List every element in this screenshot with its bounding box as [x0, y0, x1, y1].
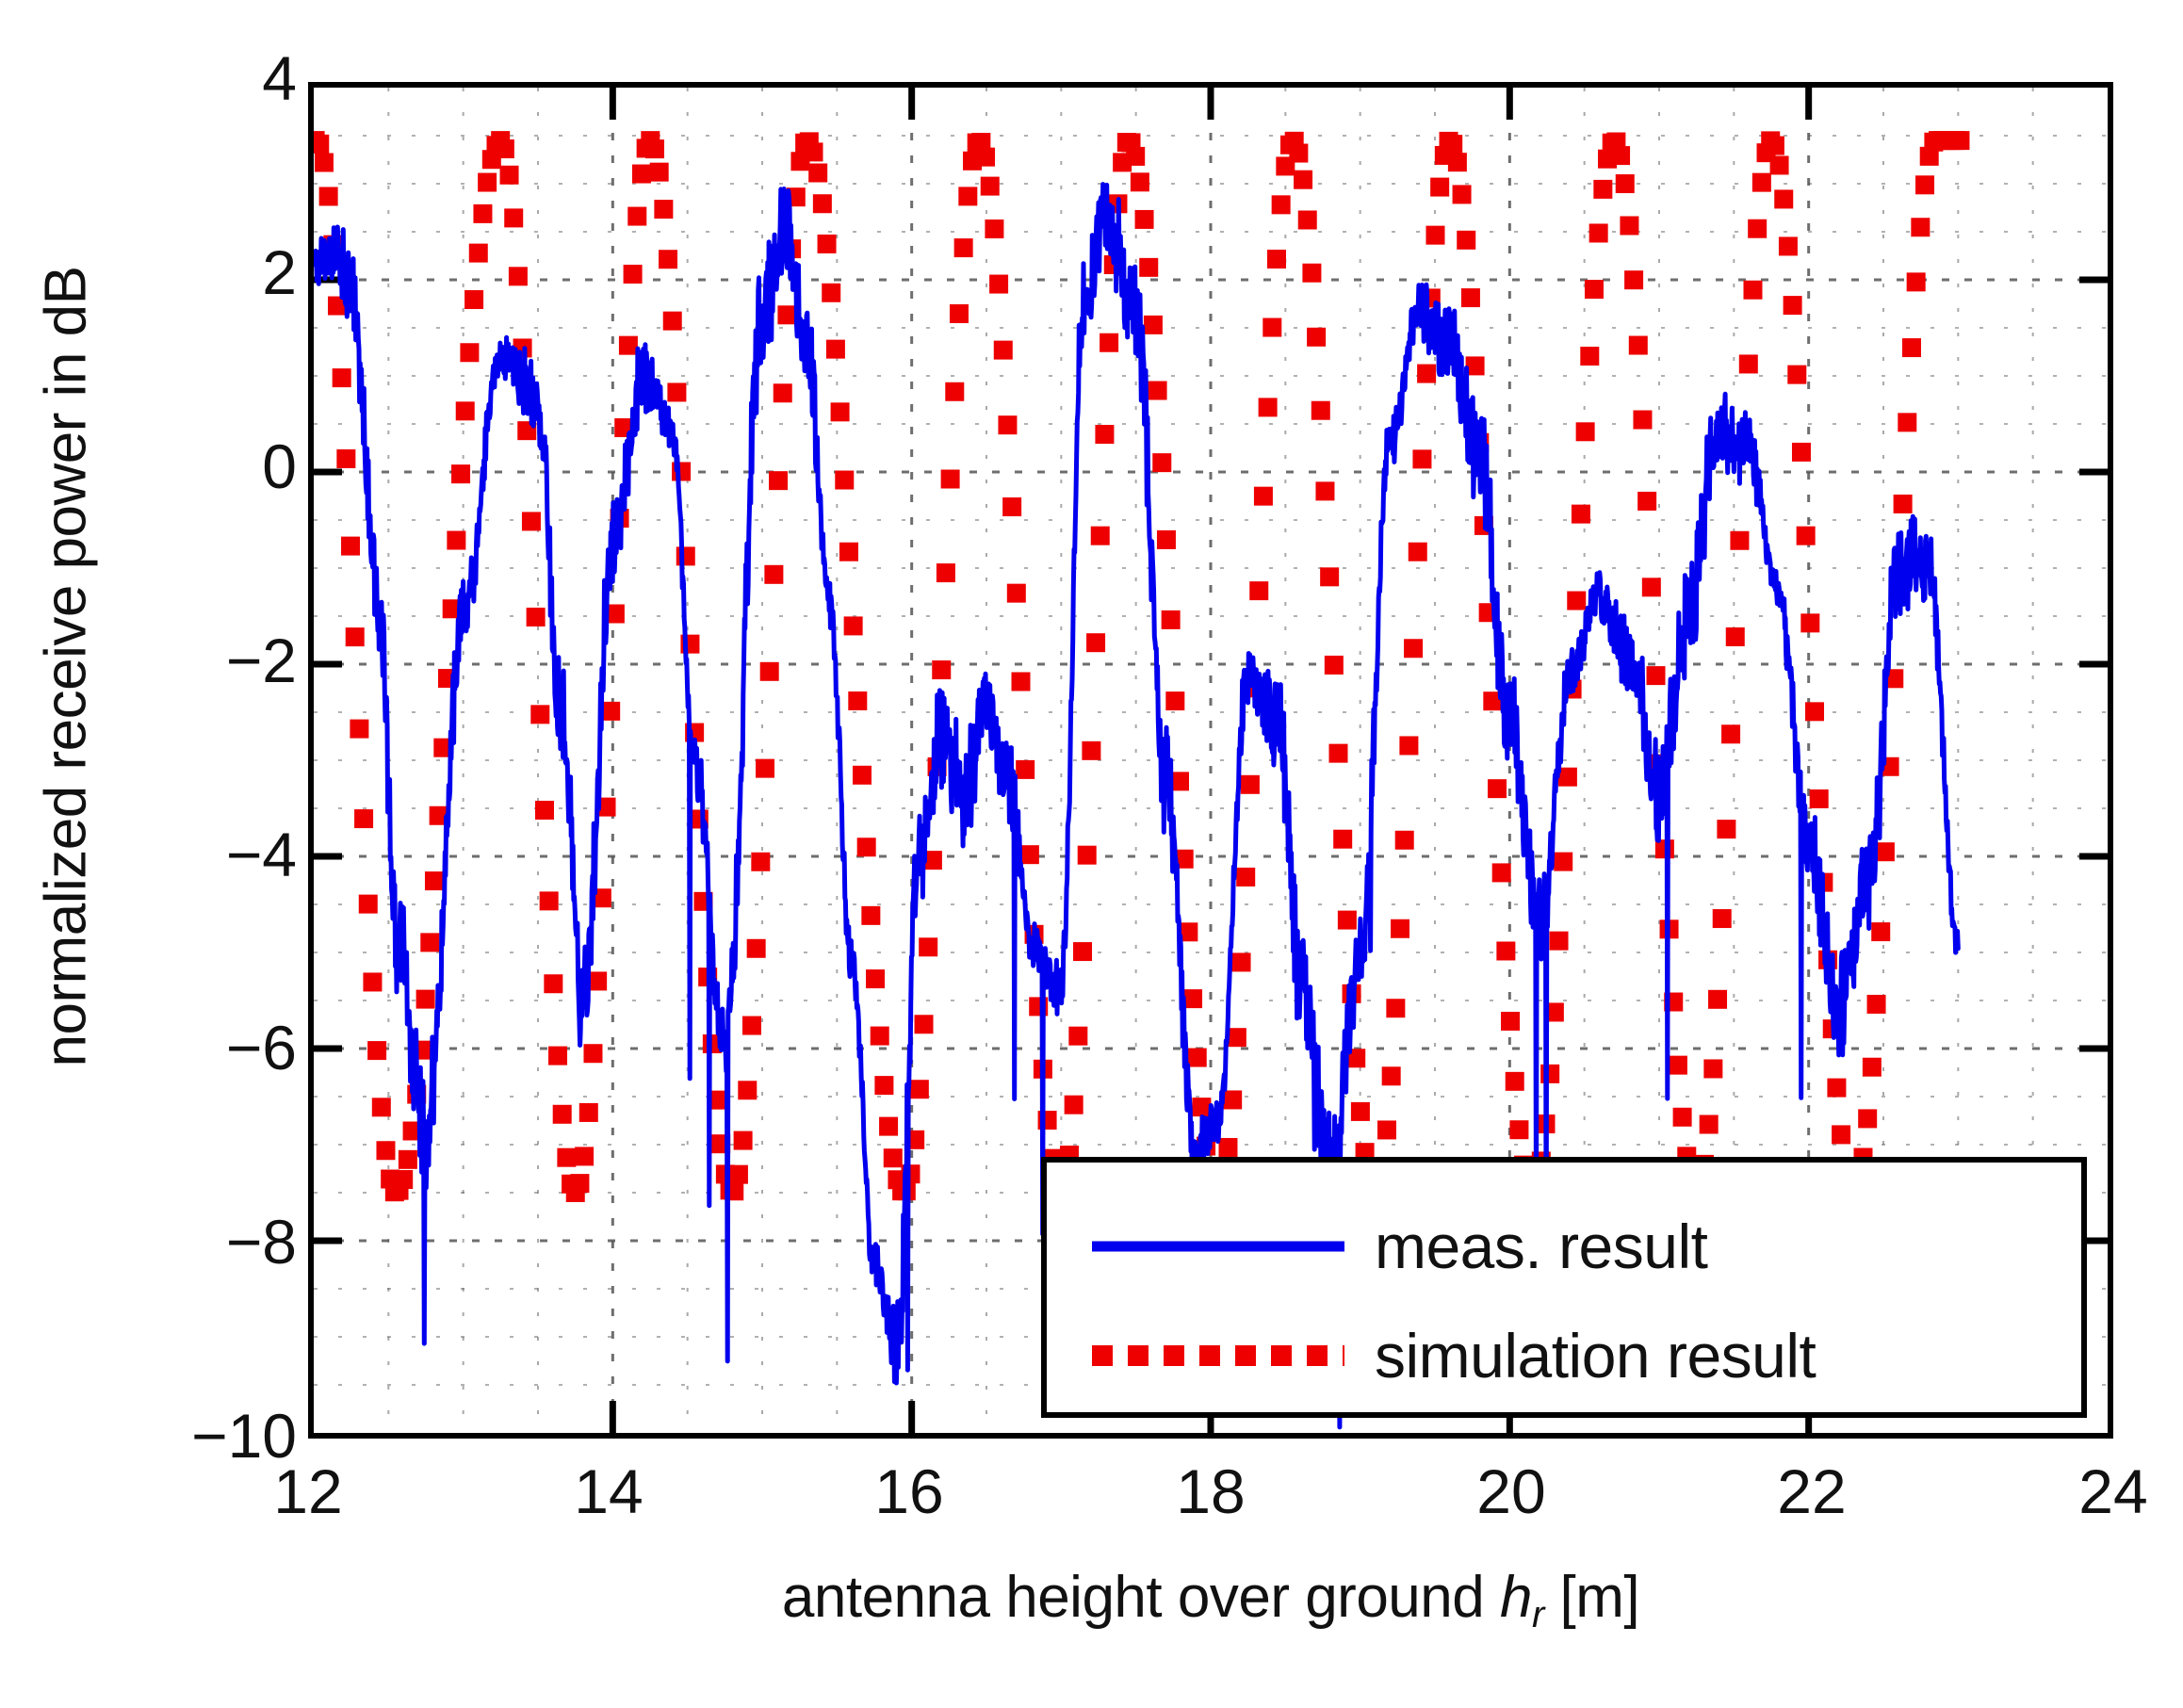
simulation-point	[1717, 820, 1735, 838]
simulation-point	[1320, 567, 1339, 586]
simulation-point	[1131, 172, 1149, 191]
simulation-point	[544, 974, 562, 993]
simulation-point	[314, 135, 329, 154]
simulation-point	[1743, 281, 1762, 300]
simulation-point	[1647, 666, 1666, 685]
simulation-point	[522, 512, 541, 530]
simulation-point	[527, 608, 546, 626]
simulation-point	[315, 153, 334, 171]
simulation-point	[504, 208, 523, 227]
simulation-point	[1073, 942, 1092, 961]
simulation-point	[1263, 318, 1281, 337]
simulation-point	[805, 142, 823, 161]
simulation-point	[1443, 135, 1462, 154]
simulation-point	[1333, 830, 1352, 849]
simulation-point	[540, 891, 559, 910]
simulation-point	[350, 720, 368, 739]
simulation-point	[1082, 741, 1100, 760]
simulation-point	[464, 290, 483, 309]
simulation-point	[1748, 220, 1767, 238]
simulation-point	[496, 139, 514, 158]
simulation-point	[1391, 919, 1409, 938]
simulation-point	[1797, 527, 1816, 545]
simulation-point	[1249, 581, 1268, 600]
simulation-point	[1488, 779, 1507, 798]
simulation-point	[1673, 1108, 1692, 1127]
simulation-point	[1152, 453, 1171, 472]
simulation-point	[1752, 173, 1771, 192]
simulation-point	[1461, 288, 1480, 307]
simulation-point	[1157, 530, 1176, 549]
simulation-point	[954, 238, 973, 257]
simulation-point	[857, 838, 876, 856]
simulation-point	[354, 809, 373, 828]
simulation-point	[376, 1141, 395, 1160]
x-tick-label-22: 22	[1718, 1456, 1906, 1527]
legend-swatch-simulation-result	[1086, 1309, 1350, 1403]
simulation-point	[659, 250, 677, 268]
simulation-point	[1863, 1058, 1882, 1077]
simulation-point	[469, 244, 488, 263]
simulation-point	[884, 1148, 903, 1167]
simulation-point	[915, 1015, 934, 1033]
simulation-point	[742, 1017, 761, 1035]
simulation-point	[1165, 691, 1184, 710]
simulation-point	[1395, 831, 1414, 850]
simulation-point	[1620, 216, 1638, 235]
simulation-point	[346, 627, 365, 646]
simulation-point	[764, 565, 783, 584]
simulation-point	[822, 284, 840, 302]
simulation-point	[1787, 366, 1806, 384]
simulation-point	[1016, 760, 1034, 779]
simulation-point	[619, 336, 638, 355]
simulation-point	[879, 1117, 898, 1136]
simulation-point	[1911, 218, 1930, 236]
simulation-point	[1950, 131, 1969, 150]
simulation-point	[473, 204, 492, 223]
simulation-point	[1162, 610, 1181, 629]
simulation-point	[478, 173, 497, 192]
x-axis-title-text: antenna height over ground	[782, 1565, 1500, 1630]
simulation-point	[1721, 724, 1740, 743]
simulation-point	[1576, 422, 1595, 441]
simulation-point	[548, 1047, 567, 1065]
simulation-point	[1580, 347, 1599, 366]
y-tick-label-neg8: −8	[14, 1206, 297, 1277]
figure-root: normalized receive power in dB 4 2 0 −2 …	[0, 0, 2183, 1708]
simulation-point	[654, 200, 673, 219]
simulation-point	[1770, 155, 1789, 174]
simulation-point	[751, 853, 770, 871]
simulation-point	[1272, 195, 1291, 214]
simulation-point	[1629, 336, 1648, 355]
simulation-point	[747, 939, 766, 958]
simulation-point	[1827, 1079, 1846, 1098]
simulation-point	[1183, 989, 1202, 1008]
simulation-point	[1232, 952, 1251, 971]
simulation-point	[500, 166, 519, 185]
y-tick-label-neg2: −2	[14, 625, 297, 696]
simulation-point	[1898, 413, 1916, 431]
legend: meas. result simulation result	[1041, 1157, 2087, 1418]
simulation-point	[1448, 153, 1467, 171]
simulation-point	[839, 543, 858, 561]
legend-item-meas-result[interactable]: meas. result	[1047, 1195, 2081, 1298]
simulation-point	[1902, 338, 1921, 357]
simulation-point	[583, 1044, 602, 1063]
simulation-point	[1766, 137, 1784, 155]
simulation-point	[1095, 425, 1114, 444]
y-tick-label-neg4: −4	[14, 819, 297, 890]
simulation-point	[1805, 702, 1824, 721]
simulation-point	[1228, 1028, 1246, 1047]
simulation-point	[579, 1103, 598, 1122]
simulation-point	[1506, 1072, 1524, 1091]
simulation-point	[1894, 495, 1913, 513]
x-tick-label-18: 18	[1116, 1456, 1305, 1527]
simulation-point	[399, 1150, 417, 1169]
simulation-point	[994, 341, 1013, 360]
simulation-point	[1311, 401, 1330, 420]
simulation-point	[844, 616, 863, 635]
simulation-point	[1236, 868, 1255, 887]
simulation-point	[729, 1165, 748, 1184]
simulation-point	[601, 702, 620, 721]
simulation-point	[1871, 922, 1890, 941]
simulation-point	[1417, 365, 1436, 383]
simulation-point	[1218, 1138, 1237, 1157]
simulation-point	[1135, 210, 1154, 229]
simulation-point	[425, 871, 444, 890]
simulation-point	[831, 402, 850, 421]
simulation-point	[530, 705, 549, 724]
x-axis-symbol-subscript: r	[1532, 1594, 1544, 1635]
simulation-point	[1351, 1102, 1370, 1121]
simulation-point	[853, 766, 872, 785]
simulation-point	[1149, 382, 1167, 400]
simulation-point	[1386, 999, 1405, 1017]
simulation-point	[774, 383, 792, 402]
simulation-point	[874, 1076, 893, 1095]
simulation-point	[650, 163, 669, 182]
simulation-point	[341, 537, 360, 556]
simulation-point	[861, 906, 880, 925]
simulation-point	[1616, 174, 1635, 193]
y-tick-label-2: 2	[14, 236, 297, 308]
simulation-point	[769, 471, 788, 490]
simulation-point	[1669, 1056, 1687, 1075]
simulation-point	[1509, 1120, 1528, 1139]
legend-line-solid-icon	[1086, 1199, 1350, 1293]
simulation-point	[624, 265, 643, 284]
legend-item-simulation-result[interactable]: simulation result	[1047, 1304, 2081, 1407]
simulation-point	[1188, 1049, 1207, 1067]
simulation-point	[1637, 492, 1656, 511]
simulation-point	[1554, 853, 1572, 871]
simulation-point	[1779, 236, 1798, 255]
simulation-point	[1091, 527, 1110, 545]
simulation-point	[1126, 147, 1145, 166]
simulation-point	[394, 1170, 413, 1189]
simulation-point	[1259, 398, 1278, 416]
simulation-point	[1078, 846, 1097, 865]
simulation-point	[1540, 1065, 1559, 1083]
simulation-point	[1377, 1120, 1396, 1139]
simulation-point	[818, 235, 837, 253]
simulation-point	[1086, 633, 1105, 652]
simulation-point	[1382, 1066, 1401, 1085]
simulation-point	[676, 546, 695, 565]
simulation-point	[1144, 316, 1163, 334]
simulation-point	[1020, 845, 1039, 864]
simulation-point	[937, 563, 955, 582]
simulation-point	[372, 1098, 391, 1116]
simulation-point	[336, 449, 355, 468]
simulation-point	[958, 187, 977, 205]
simulation-point	[1267, 250, 1286, 268]
x-tick-label-12: 12	[214, 1456, 402, 1527]
simulation-point	[1139, 258, 1158, 277]
simulation-point	[1585, 280, 1604, 299]
simulation-point	[1832, 1125, 1850, 1144]
x-axis-unit: [m]	[1544, 1565, 1639, 1630]
simulation-point	[1192, 1098, 1211, 1116]
simulation-point	[1572, 505, 1590, 524]
simulation-point	[1589, 223, 1608, 242]
simulation-point	[1792, 443, 1811, 462]
simulation-point	[319, 187, 338, 205]
simulation-point	[333, 368, 351, 387]
simulation-point	[451, 464, 470, 483]
simulation-point	[1241, 775, 1260, 794]
simulation-point	[1739, 354, 1758, 373]
simulation-point	[835, 471, 854, 490]
legend-label-simulation-result: simulation result	[1375, 1320, 1816, 1391]
simulation-point	[1800, 613, 1819, 632]
simulation-point	[738, 1081, 757, 1099]
simulation-point	[1307, 328, 1326, 347]
simulation-point	[570, 1174, 589, 1193]
x-tick-label-14: 14	[514, 1456, 703, 1527]
simulation-point	[813, 194, 832, 213]
simulation-point	[981, 177, 1000, 196]
simulation-point	[1325, 656, 1344, 675]
x-tick-label-16: 16	[815, 1456, 1003, 1527]
simulation-point	[1011, 672, 1030, 691]
simulation-point	[1007, 584, 1026, 603]
simulation-point	[1784, 296, 1802, 315]
simulation-point	[1302, 264, 1321, 283]
simulation-point	[1501, 1012, 1520, 1031]
simulation-point	[1100, 333, 1118, 352]
simulation-point	[1068, 1027, 1087, 1046]
simulation-point	[989, 275, 1008, 294]
simulation-point	[777, 305, 796, 324]
simulation-point	[363, 972, 382, 991]
simulation-point	[1876, 842, 1895, 861]
legend-line-dotted-icon	[1086, 1309, 1350, 1403]
simulation-point	[1858, 1109, 1877, 1128]
simulation-point	[950, 304, 969, 323]
simulation-point	[359, 895, 378, 914]
simulation-point	[1730, 531, 1749, 550]
simulation-point	[1409, 543, 1427, 561]
simulation-point	[1289, 144, 1308, 163]
simulation-point	[1457, 231, 1475, 250]
simulation-point	[1298, 210, 1317, 229]
simulation-point	[1315, 481, 1334, 500]
x-axis-symbol: h	[1500, 1565, 1532, 1630]
simulation-point	[1907, 272, 1926, 291]
simulation-point	[1713, 909, 1732, 928]
simulation-point	[1593, 180, 1612, 199]
simulation-point	[998, 415, 1017, 434]
simulation-point	[1611, 146, 1630, 165]
simulation-point	[756, 759, 774, 778]
simulation-point	[871, 1027, 889, 1046]
simulation-point	[1567, 592, 1586, 610]
legend-label-meas-result: meas. result	[1375, 1211, 1707, 1282]
simulation-point	[734, 1131, 753, 1150]
simulation-point	[509, 267, 528, 285]
simulation-point	[460, 343, 479, 362]
x-axis-title: antenna height over ground hr [m]	[308, 1564, 2113, 1636]
simulation-point	[1223, 1090, 1242, 1109]
simulation-point	[1915, 175, 1934, 194]
simulation-point	[420, 933, 439, 952]
simulation-point	[826, 340, 845, 359]
simulation-point	[1492, 863, 1511, 882]
legend-swatch-meas-result	[1086, 1199, 1350, 1293]
simulation-point	[447, 531, 465, 550]
simulation-point	[663, 312, 682, 331]
simulation-point	[1642, 577, 1661, 596]
simulation-point	[1404, 639, 1423, 658]
simulation-point	[808, 164, 827, 183]
simulation-point	[588, 971, 607, 990]
simulation-point	[1430, 178, 1449, 197]
simulation-point	[1065, 1096, 1083, 1114]
simulation-point	[553, 1105, 572, 1124]
simulation-point	[367, 1041, 386, 1060]
simulation-point	[1338, 911, 1357, 930]
simulation-point	[1329, 744, 1348, 763]
simulation-point	[932, 660, 951, 679]
y-tick-label-4: 4	[14, 42, 297, 114]
simulation-point	[1703, 1059, 1722, 1078]
simulation-point	[1867, 995, 1886, 1014]
simulation-series	[314, 131, 1969, 1202]
simulation-point	[866, 969, 885, 988]
simulation-point	[416, 990, 435, 1009]
simulation-point	[557, 1148, 576, 1167]
simulation-point	[941, 470, 960, 489]
simulation-point	[985, 220, 1003, 238]
simulation-point	[976, 148, 995, 167]
simulation-point	[1624, 270, 1643, 289]
simulation-point	[667, 382, 686, 401]
simulation-point	[1453, 185, 1472, 203]
simulation-point	[848, 691, 867, 710]
simulation-point	[1496, 941, 1515, 960]
simulation-point	[627, 207, 646, 226]
y-tick-label-0: 0	[14, 431, 297, 502]
simulation-point	[632, 165, 651, 184]
x-tick-label-24: 24	[2019, 1456, 2183, 1527]
simulation-point	[1726, 627, 1745, 646]
simulation-point	[1708, 990, 1727, 1009]
simulation-point	[1810, 789, 1829, 808]
simulation-point	[919, 937, 937, 956]
simulation-point	[1002, 497, 1021, 516]
simulation-point	[575, 1147, 594, 1165]
simulation-point	[1774, 189, 1793, 208]
simulation-point	[1412, 449, 1431, 468]
simulation-point	[1633, 411, 1652, 430]
simulation-point	[910, 1080, 929, 1098]
simulation-point	[1294, 171, 1312, 189]
y-tick-label-neg6: −6	[14, 1012, 297, 1083]
simulation-point	[645, 139, 664, 158]
simulation-point	[760, 662, 779, 681]
simulation-point	[1399, 736, 1418, 755]
simulation-point	[1425, 226, 1444, 245]
simulation-point	[535, 801, 554, 820]
simulation-point	[1550, 932, 1569, 951]
simulation-point	[1254, 487, 1273, 506]
simulation-point	[456, 401, 475, 420]
simulation-point	[1700, 1115, 1719, 1134]
simulation-point	[945, 382, 964, 401]
x-tick-label-20: 20	[1417, 1456, 1605, 1527]
